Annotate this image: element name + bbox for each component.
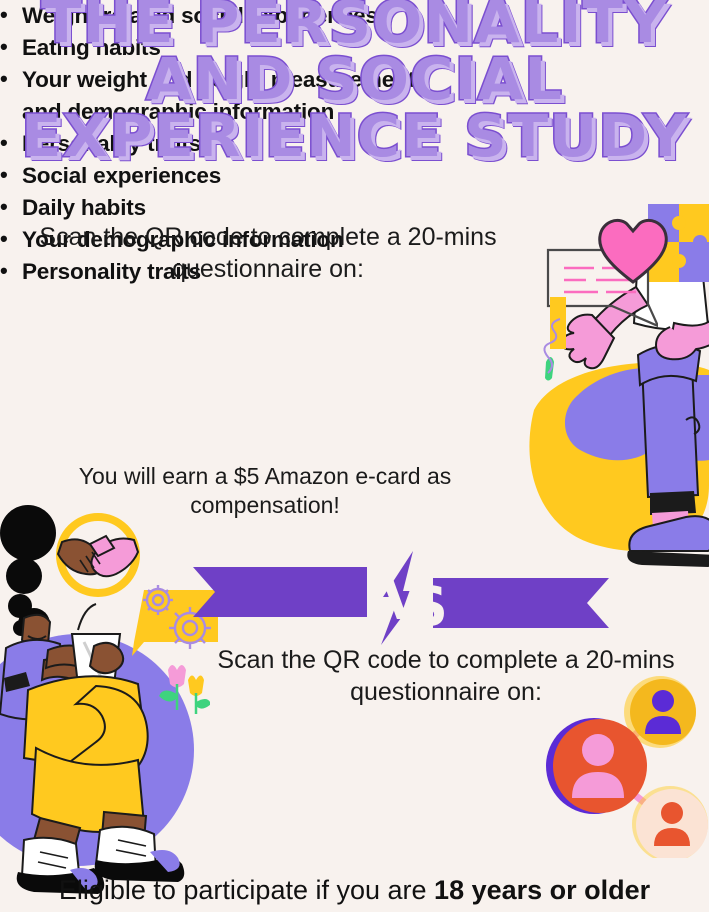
svg-text:S: S <box>409 575 448 638</box>
footer-prefix: Eligible to participate if you are <box>59 875 434 905</box>
heart-icon <box>596 216 670 286</box>
bottom-lead-text: Scan the QR code to complete a 20-mins q… <box>186 645 706 708</box>
sitting-person-illustration <box>0 500 215 900</box>
vs-banner: V S <box>185 545 615 650</box>
speech-bubble-icon <box>546 248 658 338</box>
title-line-1: THE PERSONALITY <box>0 0 709 51</box>
puzzle-pieces-icon <box>648 204 709 282</box>
vs-label: V <box>381 565 426 633</box>
handshake-icon <box>50 512 146 598</box>
title-line-2: AND SOCIAL <box>0 51 709 108</box>
title-line-3: EXPERIENCE STUDY <box>0 108 709 165</box>
footer-emphasis: 18 years or older <box>434 875 650 905</box>
eligibility-footer: Eligible to participate if you are 18 ye… <box>0 875 709 906</box>
top-lead-text: Scan the QR code to complete a 20-mins q… <box>8 222 528 285</box>
standing-person-illustration <box>520 195 709 580</box>
poster-canvas: V S THE PERSONALITY AND SOCIAL EXPERIENC… <box>0 0 709 912</box>
yellow-tag-icon <box>542 297 594 381</box>
vs-left-ribbon <box>193 567 367 617</box>
vs-right-ribbon <box>433 578 609 628</box>
poster-title: THE PERSONALITY AND SOCIAL EXPERIENCE ST… <box>0 0 709 164</box>
top-compensation-note: You will earn a $5 Amazon e-card as comp… <box>50 462 480 520</box>
list-item: Daily habits <box>0 192 400 224</box>
